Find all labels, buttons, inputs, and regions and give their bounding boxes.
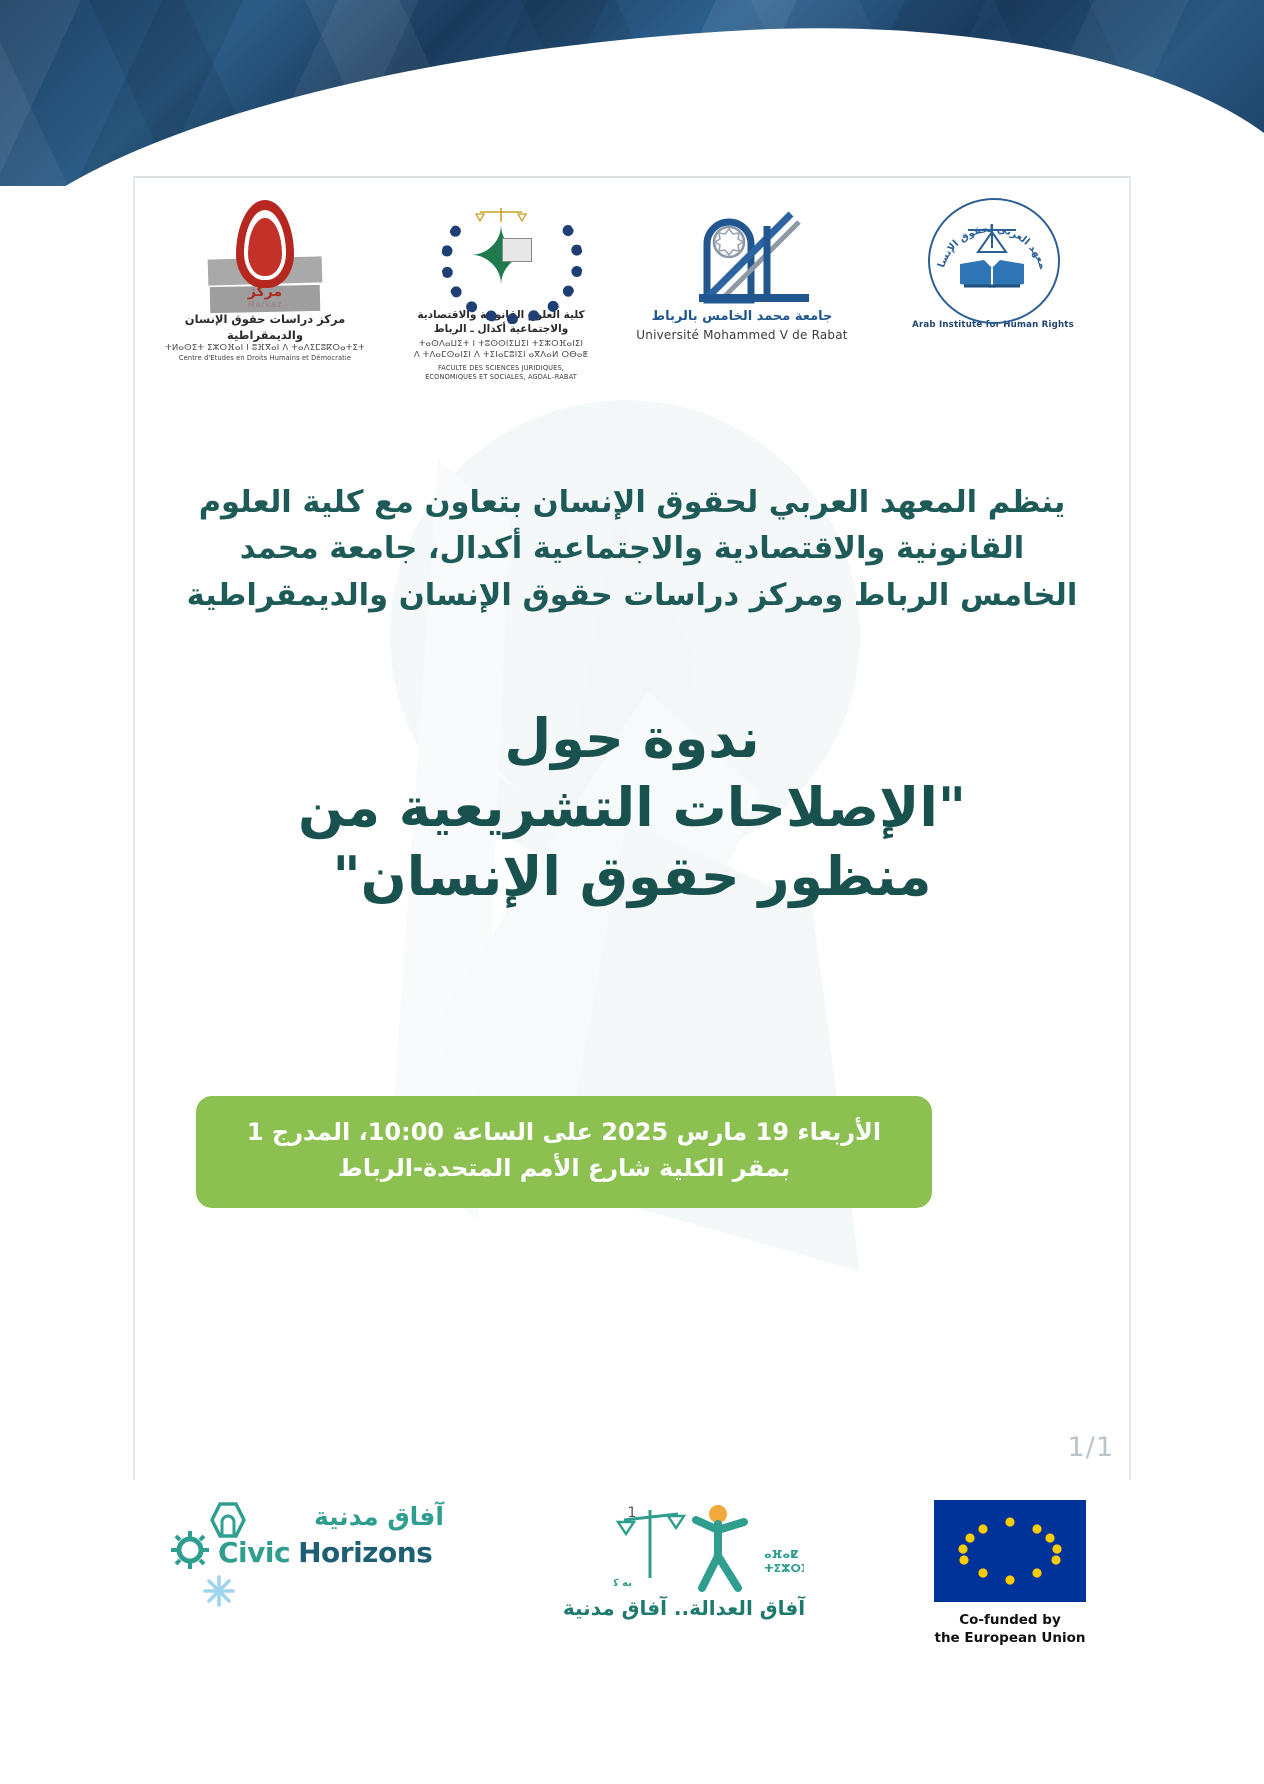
scales-of-justice-icon	[474, 206, 528, 228]
eu-caption-line-2: the European Union	[902, 1630, 1118, 1648]
footer-page-number: 1	[0, 1505, 1264, 1521]
open-book-icon	[502, 238, 532, 262]
um5-emblem-icon	[632, 196, 852, 306]
logo2-caption-tifinagh-1: ⵜⴰⵙⴷⴰⵡⵉⵜ ⵏ ⵜⵓⵙⵙⵏⵉⵡⵉⵏ ⵜⵉⵣⵔⴼⴰⵏⵉⵏ	[398, 339, 604, 350]
partner-logo-row: مركز Markaz مركز دراسات حقوق الإنسان وال…	[140, 196, 1124, 386]
civic-caption-en: CivicHorizons	[218, 1536, 432, 1569]
logo2-caption-fr-1: FACULTE DES SCIENCES JURIDIQUES,	[398, 364, 604, 373]
markaz-emblem-icon: مركز Markaz	[158, 196, 372, 312]
eu-caption-line-1: Co-funded by	[902, 1612, 1118, 1630]
logo-european-union: Co-funded by the European Union	[902, 1500, 1118, 1647]
sheet-top-rule	[133, 176, 1131, 178]
title-line-1: ندوة حول	[176, 704, 1088, 773]
logo1-caption-tifinagh: ⵜⵍⴰⵙⵉⵜ ⵉⵣⵔⴼⴰⵏ ⵏ ⵓⴼⴳⴰⵏ ⴷ ⵜⴰⴷⵉⵎⵓⴽⵔⴰⵜⵉⵜ	[158, 343, 372, 354]
faculty-emblem-icon: ✦	[398, 196, 604, 308]
logo3-caption-fr: Université Mohammed V de Rabat	[632, 328, 852, 342]
page-title: ندوة حول "الإصلاحات التشريعية من منظور ح…	[176, 704, 1088, 911]
afaq-adala-caption-ar: آفاق العدالة.. آفاق مدنية	[538, 1596, 830, 1620]
logo1-caption-fr: Centre d'Etudes en Droits Humains et Dém…	[158, 354, 372, 363]
logo2-caption-tifinagh-2: ⴷ ⵜⴷⴰⵎⵙⴰⵏⵉⵏ ⴷ ⵜⵉⵏⴰⵎⵓⵏⵉⵏ ⴰⴳⴷⴰⵍ ⵔⴱⴰⵟ	[398, 350, 604, 361]
civic-word-1: Civic	[218, 1536, 290, 1569]
aihr-emblem-icon: المعهد العربي لحقوق الإنسان	[880, 196, 1106, 320]
sheet-right-rule	[1129, 176, 1131, 1480]
event-venue: بمقر الكلية شارع الأمم المتحدة-الرباط	[222, 1150, 906, 1186]
logo-faculte-sciences-juridiques: ✦ كلية العلوم القانونية والاقتصادية والا…	[398, 196, 604, 382]
poster-page: مركز Markaz مركز دراسات حقوق الإنسان وال…	[0, 0, 1264, 1784]
logo3-caption-ar: جامعة محمد الخامس بالرباط	[632, 308, 852, 326]
logo1-caption-ar: مركز دراسات حقوق الإنسان والديمقراطية	[158, 312, 372, 343]
intro-paragraph: ينظم المعهد العربي لحقوق الإنسان بتعاون …	[176, 480, 1088, 619]
snowflake-icon	[202, 1574, 236, 1608]
page-indicator: 1/1	[1068, 1432, 1114, 1463]
logo2-caption-fr-2: ECONOMIQUES ET SOCIALES, AGDAL–RABAT	[398, 373, 604, 382]
title-line-3: منظور حقوق الإنسان"	[176, 842, 1088, 911]
logo-centre-etudes-droits-humains: مركز Markaz مركز دراسات حقوق الإنسان وال…	[158, 196, 372, 363]
logo2-caption-ar-2: والاجتماعية أكدال ـ الرباط	[398, 322, 604, 336]
svg-text:ⴰⴼⴰⵇ: ⴰⴼⴰⵇ	[764, 1548, 798, 1561]
event-date-time: الأربعاء 19 مارس 2025 على الساعة 10:00، …	[222, 1114, 906, 1150]
logo-arab-institute-human-rights: المعهد العربي لحقوق الإنسان Arab Institu…	[880, 196, 1106, 330]
title-line-2: "الإصلاحات التشريعية من	[176, 773, 1088, 842]
markaz-wordmark-ar: مركز	[222, 284, 308, 300]
sheet-left-rule	[133, 176, 135, 1480]
decorative-header-band	[0, 0, 1264, 186]
eu-caption: Co-funded by the European Union	[902, 1612, 1118, 1647]
civic-word-2: Horizons	[298, 1536, 432, 1569]
logo-universite-mohammed-v: جامعة محمد الخامس بالرباط Université Moh…	[632, 196, 852, 342]
svg-text:به كسبي: به كسبي	[614, 1578, 632, 1589]
aihr-dove-book-icon	[954, 258, 1030, 292]
svg-text:ⵜⵉⵣⵔⴼ: ⵜⵉⵣⵔⴼ	[764, 1562, 804, 1575]
aihr-scales-icon	[962, 222, 1022, 256]
funder-logo-row: آفاق مدنية CivicHorizons	[140, 1500, 1130, 1660]
markaz-wordmark-latin: Markaz	[222, 300, 308, 309]
event-details-banner: الأربعاء 19 مارس 2025 على الساعة 10:00، …	[196, 1096, 932, 1208]
gear-icon	[170, 1530, 210, 1570]
